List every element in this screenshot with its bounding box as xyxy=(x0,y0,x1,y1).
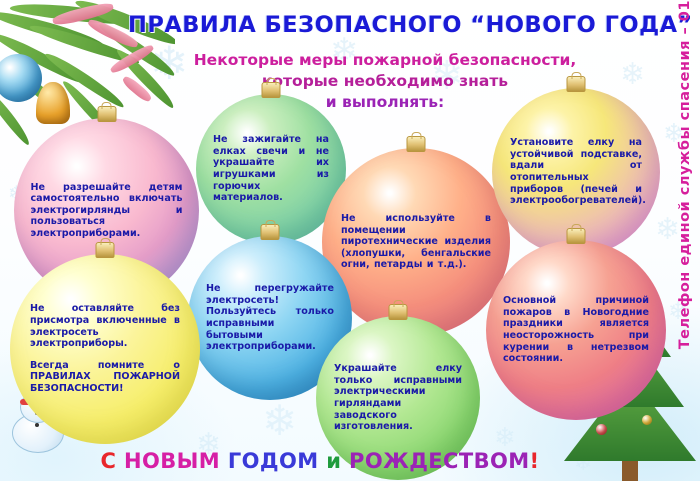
ornament-text: Установите елку на устойчивой подставке,… xyxy=(510,137,642,207)
poster-canvas: ❄ ❄ ❄ ❄ ❄ ❄ ❄ ❄ ❄ ❄ ❄ ❄ ❄ ❄ ❄ ❄ ❄ xyxy=(0,0,700,481)
ornament-text: Не оставляйте без присмотра включенные в… xyxy=(30,303,180,394)
ornament-text: Не используйте в помещении пиротехническ… xyxy=(341,213,491,271)
greeting-part-2: НОВЫМ xyxy=(124,449,228,473)
ornament-cap-icon xyxy=(97,106,116,122)
page-title: ПРАВИЛА БЕЗОПАСНОГО “НОВОГО ГОДА” xyxy=(128,12,638,38)
snowflake-icon: ❄ xyxy=(620,60,645,90)
subtitle-line-2: которые необходимо знать xyxy=(150,71,620,92)
ornament-cap-icon xyxy=(96,242,115,258)
ornament-text-line: Не оставляйте без присмотра включенные в… xyxy=(30,303,180,349)
ornament-text: Не разрешайте детям самостоятельно включ… xyxy=(31,182,183,240)
ornament-text-line-secondary: Всегда помните о ПРАВИЛАХ ПОЖАРНОЙ БЕЗОП… xyxy=(30,360,180,395)
golden-bell-icon xyxy=(36,82,70,124)
ornament-text: Не зажигайте на елках свечи и не украшай… xyxy=(213,134,329,204)
snowflake-icon: ❄ xyxy=(494,424,516,450)
greeting-part-6: ! xyxy=(530,449,540,473)
greeting-part-4: и xyxy=(326,449,349,473)
ornament-text: Украшайте елку только исправными электри… xyxy=(334,363,462,433)
emergency-phone-note: Телефон единой службы спасения – 01 xyxy=(668,0,700,345)
greeting-part-1: С xyxy=(100,449,124,473)
ornament-cap-icon xyxy=(389,304,408,320)
ornament-text-line: Не используйте в помещении пиротехническ… xyxy=(341,213,491,271)
ornament-cap-icon xyxy=(567,76,586,92)
ornament-text-line: Установите елку на устойчивой подставке,… xyxy=(510,137,642,207)
ornament-cap-icon xyxy=(262,82,281,98)
ornament-text-line: Не перегружайте электросеть! Пользуйтесь… xyxy=(206,283,334,353)
ornament-text-line: Украшайте елку только исправными электри… xyxy=(334,363,462,433)
greeting-part-3: ГОДОМ xyxy=(228,449,326,473)
ornament-text-line: Не разрешайте детям самостоятельно включ… xyxy=(31,182,183,240)
snowflake-icon: ❄ xyxy=(262,400,297,442)
ornament-cap-icon xyxy=(567,228,586,244)
ornament-unattended-appliances: Не оставляйте без присмотра включенные в… xyxy=(10,254,200,444)
ornament-text: Основной причиной пожаров в Новогодние п… xyxy=(503,295,649,365)
greeting-part-5: РОЖДЕСТВОМ xyxy=(349,449,530,473)
ornament-cap-icon xyxy=(261,224,280,240)
emergency-phone-text: Телефон единой службы спасения – 01 xyxy=(677,0,693,353)
ornament-text-line: Основной причиной пожаров в Новогодние п… xyxy=(503,295,649,365)
ornament-text: Не перегружайте электросеть! Пользуйтесь… xyxy=(206,283,334,353)
greeting-banner: С НОВЫМ ГОДОМ и РОЖДЕСТВОМ! xyxy=(60,449,580,473)
ornament-text-line: Не зажигайте на елках свечи и не украшай… xyxy=(213,134,329,204)
subtitle-line-1: Некоторые меры пожарной безопасности, xyxy=(194,51,577,69)
ornament-cap-icon xyxy=(407,136,426,152)
ornament-smoking-cause: Основной причиной пожаров в Новогодние п… xyxy=(486,240,666,420)
